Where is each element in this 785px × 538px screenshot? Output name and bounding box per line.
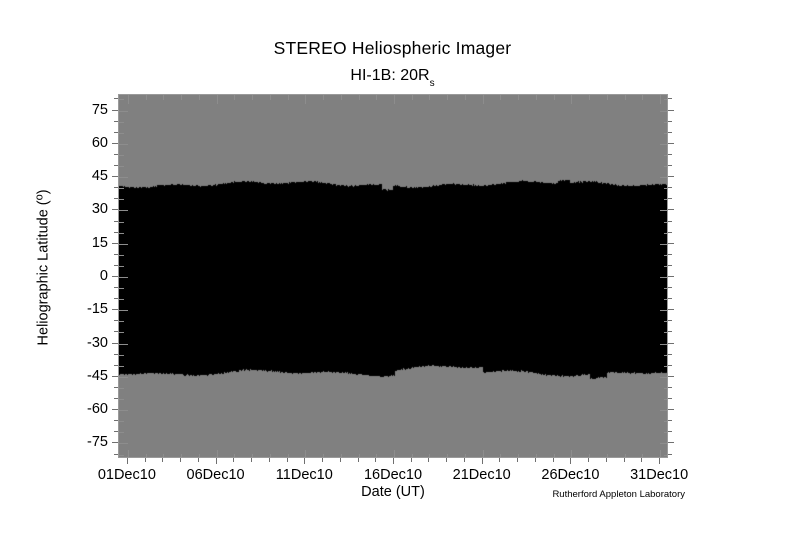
y-tick-label: -45 [60, 369, 108, 384]
x-tick-outer-bottom [340, 458, 341, 462]
y-tick-right [660, 410, 668, 411]
y-tick-right [664, 266, 668, 267]
x-tick-top [625, 95, 626, 100]
x-tick-top [217, 95, 218, 104]
y-tick-label: -75 [60, 435, 108, 450]
y-tick-outer-right [668, 398, 672, 399]
y-tick-outer-left [112, 343, 118, 344]
x-tick-outer-bottom [145, 458, 146, 462]
y-tick-right [660, 244, 668, 245]
y-tick-outer-right [668, 431, 672, 432]
x-tick-outer-bottom [446, 458, 447, 462]
x-tick-bottom [323, 454, 324, 458]
y-tick-outer-right [668, 454, 672, 455]
y-tick-left [119, 310, 128, 311]
x-tick-outer-bottom [375, 458, 376, 462]
x-tick-outer-bottom [659, 458, 660, 464]
y-tick-right [660, 443, 668, 444]
y-tick-outer-right [668, 110, 674, 111]
x-tick-outer-bottom [517, 458, 518, 462]
y-tick-outer-right [668, 121, 672, 122]
x-tick-top [163, 95, 164, 100]
x-tick-outer-bottom [393, 458, 394, 464]
x-tick-outer-bottom [428, 458, 429, 462]
x-tick-outer-bottom [624, 458, 625, 462]
y-tick-right [664, 421, 668, 422]
y-tick-outer-right [668, 198, 672, 199]
y-tick-outer-left [112, 409, 118, 410]
x-tick-outer-bottom [588, 458, 589, 462]
y-tick-outer-left [114, 221, 118, 222]
y-tick-outer-right [668, 387, 672, 388]
x-tick-outer-bottom [216, 458, 217, 464]
x-tick-outer-bottom [233, 458, 234, 462]
x-tick-bottom [163, 454, 164, 458]
y-tick-outer-left [114, 198, 118, 199]
y-tick-outer-left [114, 398, 118, 399]
y-tick-right [664, 321, 668, 322]
y-tick-outer-left [114, 387, 118, 388]
y-tick-left [119, 233, 124, 234]
x-tick-top [465, 95, 466, 100]
x-tick-top [323, 95, 324, 100]
x-tick-bottom [465, 454, 466, 458]
figure-subtitle-text: HI-1B: 20R [350, 67, 429, 84]
x-tick-label: 16Dec10 [364, 468, 422, 483]
x-tick-outer-bottom [198, 458, 199, 462]
y-tick-outer-left [112, 176, 118, 177]
x-tick-bottom [359, 454, 360, 458]
y-tick-outer-right [668, 132, 672, 133]
y-tick-label: 30 [60, 202, 108, 217]
x-tick-outer-bottom [269, 458, 270, 462]
y-tick-outer-right [668, 232, 672, 233]
x-tick-bottom [642, 454, 643, 458]
x-tick-outer-bottom [127, 458, 128, 464]
x-tick-label: 06Dec10 [187, 468, 245, 483]
x-tick-bottom [660, 450, 661, 458]
x-tick-top [181, 95, 182, 100]
y-tick-outer-left [112, 110, 118, 111]
x-tick-bottom [217, 450, 218, 458]
x-tick-outer-bottom [606, 458, 607, 462]
y-tick-outer-left [114, 298, 118, 299]
y-tick-right [664, 166, 668, 167]
x-tick-outer-bottom [464, 458, 465, 462]
y-tick-left [119, 332, 124, 333]
x-tick-outer-bottom [535, 458, 536, 462]
y-tick-outer-right [668, 320, 672, 321]
jmap-heatmap [119, 95, 668, 458]
figure-subtitle-subscript: s [430, 78, 435, 89]
x-tick-top [234, 95, 235, 100]
y-tick-outer-right [668, 376, 674, 377]
y-tick-right [664, 388, 668, 389]
x-tick-bottom [412, 454, 413, 458]
x-tick-outer-bottom [287, 458, 288, 462]
y-tick-right [664, 133, 668, 134]
y-tick-left [119, 255, 124, 256]
x-tick-top [447, 95, 448, 100]
y-tick-right [664, 288, 668, 289]
y-tick-right [664, 355, 668, 356]
y-tick-right [664, 155, 668, 156]
y-tick-label: -15 [60, 302, 108, 317]
x-tick-bottom [394, 450, 395, 458]
y-tick-outer-right [668, 221, 672, 222]
y-tick-right [664, 432, 668, 433]
y-tick-outer-right [668, 143, 674, 144]
x-tick-outer-bottom [411, 458, 412, 462]
y-tick-outer-right [668, 243, 674, 244]
y-tick-outer-right [668, 209, 674, 210]
x-tick-top [341, 95, 342, 100]
x-tick-top [642, 95, 643, 100]
y-tick-left [119, 99, 124, 100]
y-tick-left [119, 177, 128, 178]
y-tick-left [119, 366, 124, 367]
y-tick-left [119, 244, 128, 245]
y-tick-left [119, 443, 128, 444]
y-tick-left [119, 122, 124, 123]
y-tick-outer-left [114, 132, 118, 133]
y-tick-outer-left [112, 276, 118, 277]
x-tick-bottom [483, 450, 484, 458]
y-tick-outer-right [668, 298, 672, 299]
y-tick-outer-left [114, 265, 118, 266]
y-tick-outer-right [668, 409, 674, 410]
y-tick-outer-right [668, 254, 672, 255]
y-tick-right [664, 188, 668, 189]
x-tick-top [288, 95, 289, 100]
y-tick-left [119, 344, 128, 345]
y-tick-outer-left [114, 165, 118, 166]
x-tick-label: 26Dec10 [541, 468, 599, 483]
x-tick-label: 11Dec10 [276, 468, 333, 483]
y-tick-outer-left [114, 365, 118, 366]
y-tick-left [119, 288, 124, 289]
y-tick-outer-right [668, 420, 672, 421]
y-tick-left [119, 166, 124, 167]
x-tick-top [252, 95, 253, 100]
x-tick-bottom [625, 454, 626, 458]
x-tick-outer-bottom [570, 458, 571, 464]
y-tick-right [664, 299, 668, 300]
x-tick-bottom [500, 454, 501, 458]
x-tick-outer-bottom [162, 458, 163, 462]
x-tick-top [376, 95, 377, 100]
x-tick-bottom [536, 454, 537, 458]
y-tick-outer-right [668, 287, 672, 288]
x-tick-top [305, 95, 306, 104]
x-tick-top [571, 95, 572, 104]
y-tick-left [119, 355, 124, 356]
y-tick-right [660, 177, 668, 178]
y-tick-right [664, 255, 668, 256]
x-tick-top [394, 95, 395, 104]
figure-title: STEREO Heliospheric Imager [0, 38, 785, 59]
x-tick-top [607, 95, 608, 100]
x-tick-outer-bottom [641, 458, 642, 462]
y-tick-label: -60 [60, 402, 108, 417]
y-tick-outer-right [668, 276, 674, 277]
x-tick-bottom [128, 450, 129, 458]
y-tick-left [119, 111, 128, 112]
y-tick-right [664, 122, 668, 123]
x-tick-bottom [554, 454, 555, 458]
y-tick-outer-left [114, 454, 118, 455]
x-tick-bottom [305, 450, 306, 458]
x-tick-top [483, 95, 484, 104]
y-tick-outer-left [114, 331, 118, 332]
x-tick-top [589, 95, 590, 100]
y-tick-left [119, 222, 124, 223]
y-tick-outer-left [114, 354, 118, 355]
y-tick-left [119, 399, 124, 400]
y-tick-label: -30 [60, 336, 108, 351]
y-tick-right [664, 233, 668, 234]
y-tick-outer-right [668, 354, 672, 355]
y-tick-left [119, 188, 124, 189]
x-tick-top [536, 95, 537, 100]
x-tick-bottom [234, 454, 235, 458]
y-tick-right [664, 366, 668, 367]
y-tick-right [664, 455, 668, 456]
x-tick-bottom [270, 454, 271, 458]
x-tick-bottom [146, 454, 147, 458]
figure-title-text: STEREO Heliospheric Imager [274, 38, 512, 58]
x-tick-top [518, 95, 519, 100]
y-axis-title: Heliographic Latitude (o) [33, 117, 52, 417]
plot-area [118, 94, 668, 458]
x-tick-top [199, 95, 200, 100]
y-tick-outer-left [114, 187, 118, 188]
y-tick-right [664, 332, 668, 333]
y-tick-left [119, 299, 124, 300]
y-tick-right [664, 222, 668, 223]
y-tick-right [664, 199, 668, 200]
x-tick-label: 21Dec10 [453, 468, 511, 483]
x-tick-bottom [181, 454, 182, 458]
x-tick-outer-bottom [322, 458, 323, 462]
x-tick-top [429, 95, 430, 100]
x-tick-bottom [447, 454, 448, 458]
y-tick-left [119, 410, 128, 411]
y-tick-outer-left [114, 431, 118, 432]
y-tick-outer-left [112, 376, 118, 377]
y-tick-right [660, 111, 668, 112]
x-tick-top [359, 95, 360, 100]
y-tick-label: 45 [60, 169, 108, 184]
y-tick-left [119, 199, 124, 200]
x-tick-outer-bottom [499, 458, 500, 462]
y-tick-outer-left [112, 209, 118, 210]
y-tick-outer-right [668, 165, 672, 166]
x-tick-outer-bottom [358, 458, 359, 462]
x-tick-bottom [376, 454, 377, 458]
y-tick-left [119, 388, 124, 389]
y-tick-left [119, 144, 128, 145]
y-tick-outer-left [112, 143, 118, 144]
y-tick-outer-left [114, 254, 118, 255]
y-tick-label: 75 [60, 103, 108, 118]
y-tick-right [660, 210, 668, 211]
y-tick-outer-right [668, 265, 672, 266]
x-tick-outer-bottom [482, 458, 483, 464]
y-tick-outer-right [668, 98, 672, 99]
y-tick-left [119, 377, 128, 378]
y-tick-left [119, 133, 124, 134]
x-tick-bottom [607, 454, 608, 458]
y-tick-right [660, 310, 668, 311]
x-tick-bottom [288, 454, 289, 458]
y-tick-outer-left [112, 243, 118, 244]
x-tick-top [270, 95, 271, 100]
y-tick-right [660, 144, 668, 145]
y-tick-outer-right [668, 343, 674, 344]
y-tick-outer-left [112, 309, 118, 310]
y-tick-outer-left [114, 320, 118, 321]
y-tick-outer-left [114, 287, 118, 288]
x-tick-top [554, 95, 555, 100]
x-tick-bottom [589, 454, 590, 458]
y-tick-label: 60 [60, 136, 108, 151]
y-tick-left [119, 432, 124, 433]
x-tick-bottom [518, 454, 519, 458]
y-tick-left [119, 155, 124, 156]
x-tick-outer-bottom [180, 458, 181, 462]
x-tick-bottom [252, 454, 253, 458]
y-tick-left [119, 455, 124, 456]
y-tick-label: 0 [60, 269, 108, 284]
y-tick-outer-right [668, 309, 674, 310]
y-tick-right [664, 99, 668, 100]
x-tick-top [128, 95, 129, 104]
x-tick-top [660, 95, 661, 104]
x-tick-top [146, 95, 147, 100]
y-tick-outer-left [114, 154, 118, 155]
y-tick-outer-right [668, 331, 672, 332]
y-tick-left [119, 210, 128, 211]
y-tick-right [664, 399, 668, 400]
y-tick-right [660, 344, 668, 345]
x-tick-bottom [341, 454, 342, 458]
y-tick-outer-left [114, 121, 118, 122]
y-tick-left [119, 277, 128, 278]
x-tick-outer-bottom [304, 458, 305, 464]
y-tick-label: 15 [60, 236, 108, 251]
y-tick-outer-right [668, 154, 672, 155]
y-tick-outer-right [668, 176, 674, 177]
x-tick-outer-bottom [251, 458, 252, 462]
x-tick-top [412, 95, 413, 100]
x-tick-top [500, 95, 501, 100]
y-tick-right [660, 377, 668, 378]
y-tick-outer-right [668, 187, 672, 188]
y-tick-left [119, 321, 124, 322]
y-tick-outer-left [114, 420, 118, 421]
y-tick-left [119, 421, 124, 422]
x-tick-bottom [199, 454, 200, 458]
x-tick-bottom [429, 454, 430, 458]
y-tick-outer-right [668, 442, 674, 443]
y-tick-outer-left [114, 98, 118, 99]
figure-root: STEREO Heliospheric Imager HI-1B: 20Rs 7… [0, 0, 785, 538]
figure-subtitle: HI-1B: 20Rs [0, 67, 785, 87]
x-tick-label: 31Dec10 [630, 468, 688, 483]
x-tick-bottom [571, 450, 572, 458]
y-tick-left [119, 266, 124, 267]
y-tick-outer-right [668, 365, 672, 366]
y-tick-outer-left [112, 442, 118, 443]
credit-label: Rutherford Appleton Laboratory [430, 489, 685, 500]
x-tick-outer-bottom [553, 458, 554, 462]
y-tick-outer-left [114, 232, 118, 233]
x-tick-label: 01Dec10 [98, 468, 156, 483]
y-tick-right [660, 277, 668, 278]
